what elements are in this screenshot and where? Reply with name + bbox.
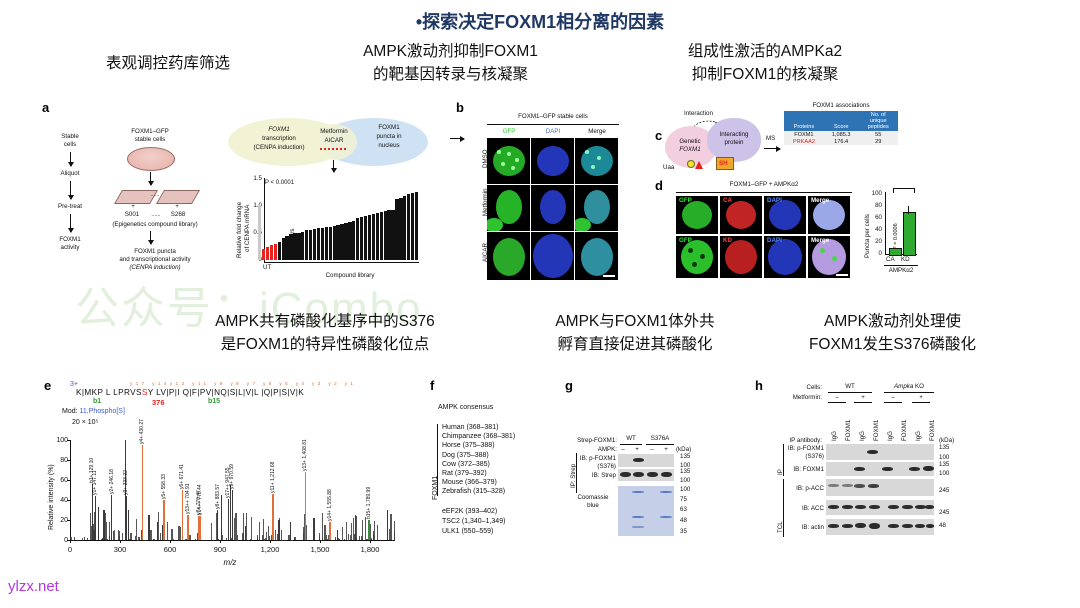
chartE-noise-peak bbox=[394, 531, 395, 540]
panel-f-other-item: ULK1 (550–559) bbox=[442, 528, 493, 537]
panel-a-label: a bbox=[42, 100, 49, 115]
chartE-ytick-mark bbox=[67, 500, 70, 501]
chartE-peak-labeled bbox=[232, 490, 233, 540]
chartA-bar bbox=[325, 227, 328, 260]
chartE-xtick-mark bbox=[270, 540, 271, 543]
chartE-peak-labeled bbox=[142, 445, 144, 540]
micrograph-dmso-merge bbox=[575, 138, 618, 184]
cell-score: 176.4 bbox=[824, 138, 859, 145]
chartE-xtick-label: 1,200 bbox=[254, 545, 286, 554]
panel-b-col-merge: Merge bbox=[576, 128, 618, 136]
panel-g-rule-wt bbox=[620, 444, 642, 445]
chartE-ytick-mark bbox=[67, 460, 70, 461]
panel-h-antibody-label: FOXM1 bbox=[901, 420, 908, 441]
th-proteins: Proteins bbox=[784, 111, 824, 131]
well-plate-right-icon bbox=[156, 190, 200, 204]
chartE-noise-peak bbox=[105, 539, 106, 540]
panel-f-other-item: eEF2K (393–402) bbox=[442, 508, 497, 517]
panel-h-rule-wt bbox=[828, 392, 872, 393]
chartD-significance-bracket bbox=[893, 188, 915, 193]
chartE-noise-peak bbox=[122, 533, 123, 540]
chartE-xtick-label: 1,500 bbox=[304, 545, 336, 554]
slide-canvas: 公众号：iCombo ylzx.net •探索决定FOXM1相分离的因素 表观调… bbox=[0, 0, 1080, 608]
panel-h-rule-ko bbox=[884, 392, 934, 393]
chartA-bar bbox=[282, 238, 285, 260]
chartA-bars bbox=[258, 178, 418, 260]
chartE-ytick-60: 60 bbox=[52, 477, 68, 486]
panel-f-species-item: Dog (375–388) bbox=[442, 452, 489, 461]
flow-foxm1-activity-l1: FOXM1 bbox=[46, 236, 94, 244]
panel-b-col-dapi: DAPI bbox=[532, 128, 574, 136]
plate-label-s001: S001 bbox=[114, 211, 150, 219]
blot-h-pacc bbox=[826, 479, 934, 496]
chartE-noise-peak bbox=[114, 530, 115, 540]
mod-value: 11,Phospho[S] bbox=[80, 408, 125, 415]
panel-h-antibody-label: IgG bbox=[831, 431, 838, 441]
panel-f-species-item: Zebrafish (315–328) bbox=[442, 488, 505, 497]
chartE-noise-peak bbox=[251, 517, 252, 540]
chartD-bar-ca bbox=[889, 248, 902, 256]
chartE-peak-label: y4+ 430.27 bbox=[139, 419, 145, 444]
panel-e-b1: b1 bbox=[93, 398, 101, 407]
chartE-xaxis bbox=[70, 540, 395, 541]
panel-h-blot2-l1: IB: FOXM1 bbox=[786, 466, 824, 474]
bubble-foxm1: FOXM1 bbox=[240, 126, 318, 134]
panel-g-mw2a: 135 bbox=[680, 468, 690, 476]
chartA-bar bbox=[258, 205, 261, 260]
chartE-noise-peak bbox=[173, 539, 174, 540]
chartA-bar bbox=[403, 196, 406, 261]
cell-score: 1,085.3 bbox=[824, 131, 859, 138]
panel-h-metformin-label: Metformin: bbox=[758, 394, 822, 402]
chartE-noise-peak bbox=[135, 536, 136, 540]
panel-c-genetic-l1: Genetic bbox=[665, 138, 715, 146]
panel-g-mw3c: 63 bbox=[680, 506, 687, 514]
chartE-noise-peak bbox=[294, 537, 295, 540]
chartA-bar bbox=[333, 226, 336, 260]
panel-e-site: 376 bbox=[152, 398, 165, 407]
panel-c-partner-l1: Interacting bbox=[709, 131, 759, 139]
chartE-noise-peak bbox=[211, 523, 212, 540]
chartD-xtick-kd: KD bbox=[901, 256, 910, 264]
heading-s376: AMPK共有磷酸化基序中的S376 是FOXM1的特异性磷酸化位点 bbox=[160, 310, 490, 357]
heading-s376-line2: 是FOXM1的特异性磷酸化位点 bbox=[160, 333, 490, 356]
chartA-plot-area bbox=[258, 178, 418, 260]
panel-e-label: e bbox=[44, 378, 51, 393]
chartE-noise-peak bbox=[84, 537, 85, 540]
plate-dots: ...... bbox=[148, 192, 162, 199]
scale-text: 20 × 10⁵ bbox=[72, 419, 98, 426]
cell-peptides: 29 bbox=[859, 138, 899, 145]
panel-d-label-merge-1: Merge bbox=[811, 197, 829, 204]
chartE-noise-peak bbox=[178, 526, 179, 540]
panel-h-antibody-label: IgG bbox=[859, 431, 866, 441]
panel-d-label: d bbox=[655, 178, 663, 193]
panel-f-species-item: Mouse (366–379) bbox=[442, 479, 497, 488]
panel-e-b15: b15 bbox=[208, 398, 220, 407]
chartA-bar bbox=[293, 233, 296, 260]
th-peptides: No. of unique peptides bbox=[859, 111, 899, 131]
chartE-peak-label: y2+ 246.18 bbox=[109, 469, 115, 494]
chartE-noise-peak bbox=[107, 539, 108, 540]
chartE-peak-label: y13+ 1,408.81 bbox=[302, 439, 308, 471]
chartA-bar bbox=[352, 221, 355, 260]
micrograph-dmso-gfp bbox=[487, 138, 530, 184]
panel-g-sign-3: – bbox=[647, 446, 657, 454]
cell-protein: PRKAA2 bbox=[784, 138, 824, 145]
panel-h-label: h bbox=[755, 378, 763, 393]
panel-d-header-rule bbox=[676, 192, 852, 193]
chartD-ytick-5: 100 bbox=[868, 190, 882, 198]
seq-suffix: Y LV|P|I Q|F|PV|NQ|S|L|V|L |Q|P|S|V|K bbox=[148, 388, 304, 397]
panel-h-ip-rule bbox=[783, 444, 784, 476]
chartE-peak-labeled bbox=[217, 510, 218, 540]
panel-g-blot1-l1: IB: p-FOXM1 bbox=[578, 455, 616, 463]
blot-h-foxm1 bbox=[826, 462, 934, 476]
panel-b-header: FOXM1–GFP stable cells bbox=[488, 113, 618, 121]
panel-g-mw3d: 48 bbox=[680, 517, 687, 525]
chartE-ytick-mark bbox=[67, 520, 70, 521]
chartE-noise-peak bbox=[259, 522, 260, 540]
chartE-peak bbox=[157, 522, 158, 540]
chartE-xtick-label: 600 bbox=[154, 545, 186, 554]
mod-prefix: Mod: bbox=[62, 408, 80, 415]
panel-f-other-item: TSC2 (1,340–1,349) bbox=[442, 518, 505, 527]
chartE-noise-peak bbox=[185, 539, 186, 540]
panel-h-cells-ko-gene: Ampka bbox=[894, 383, 913, 390]
panel-c-ms-label: MS bbox=[766, 135, 775, 143]
chartD-xlabel: AMPKα2 bbox=[880, 267, 922, 275]
chartE-noise-peak bbox=[180, 527, 181, 540]
panel-c-ms-arrow-icon bbox=[764, 148, 780, 149]
chartA-bar bbox=[380, 212, 383, 260]
th-score: Score bbox=[824, 111, 859, 131]
chartE-peak-labeled bbox=[126, 496, 127, 540]
panel-e-mod: Mod: 11,Phospho[S] bbox=[62, 408, 125, 415]
heading-ampka2-line1: 组成性激活的AMPKa2 bbox=[640, 40, 890, 63]
chartE-noise-peak bbox=[136, 519, 137, 540]
panel-b-col-gfp: GFP bbox=[488, 128, 530, 136]
chartA-bar bbox=[344, 223, 347, 260]
blot-h-pfoxm1 bbox=[826, 444, 934, 460]
chartE-peak bbox=[148, 515, 149, 540]
chartE-noise-peak bbox=[377, 525, 378, 540]
panel-g-cond-wt: WT bbox=[620, 435, 642, 443]
chartA-bar bbox=[262, 249, 265, 260]
chartE-noise-peak bbox=[319, 533, 320, 540]
panel-g-row-ampk-label: AMPK: bbox=[577, 446, 617, 454]
chartE-ytick-40: 40 bbox=[52, 497, 68, 506]
chartA-bar bbox=[340, 224, 343, 260]
chartE-noise-peak bbox=[150, 530, 151, 540]
panel-h-antibody-label: FOXM1 bbox=[873, 420, 880, 441]
panel-g-ip-rule bbox=[576, 453, 577, 493]
flow-foxm1-activity-l2: activity bbox=[46, 244, 94, 252]
chartA-bar bbox=[289, 234, 292, 260]
chartA-bar bbox=[356, 218, 359, 260]
heading-ampk-agonist-line1: AMPK激动剂抑制FOXM1 bbox=[318, 40, 583, 63]
panel-h-rule-m1 bbox=[828, 402, 846, 403]
chartE-noise-peak bbox=[167, 522, 168, 540]
chartE-noise-peak bbox=[158, 512, 159, 540]
flow-aliquot: Aliquot bbox=[46, 170, 94, 178]
micrograph-aicar-merge bbox=[575, 232, 618, 280]
panel-h-antibody-label: FOXM1 bbox=[929, 420, 936, 441]
chartA-bar bbox=[274, 244, 277, 260]
chartE-noise-peak bbox=[342, 527, 343, 540]
flow-arrow-4-icon bbox=[150, 172, 151, 185]
chartE-xtick-label: 1,800 bbox=[354, 545, 386, 554]
chartE-ytick-100: 100 bbox=[52, 437, 68, 446]
cell-protein: FOXM1 bbox=[784, 131, 824, 138]
chartA-bar bbox=[368, 215, 371, 260]
chartE-noise-peak bbox=[235, 513, 236, 540]
chartE-peak-labeled bbox=[228, 499, 229, 540]
panel-f-species-item: Rat (379–392) bbox=[442, 470, 487, 479]
bubble-puncta-in: puncta in bbox=[356, 133, 422, 141]
panel-c-partner-l2: protein bbox=[709, 139, 759, 147]
chartE-peaks: b1+ 129.10y1+ 147.11y2+ 246.18y3+ 333.22… bbox=[70, 440, 395, 540]
panel-h-mw1a: 135 bbox=[939, 444, 949, 452]
flow-arrow-1-icon bbox=[70, 152, 71, 166]
panel-g-label: g bbox=[565, 378, 573, 393]
chartD-ytick-1: 20 bbox=[868, 238, 882, 246]
chartE-peak-label: y1+ 147.11 bbox=[92, 470, 98, 495]
chartA-bar bbox=[309, 230, 312, 260]
plate-plus-right: + bbox=[162, 203, 192, 211]
micrograph-dmso-dapi bbox=[531, 138, 574, 184]
bubble-metformin: Metformin bbox=[310, 128, 358, 136]
chartE-noise-peak bbox=[242, 533, 243, 540]
chartE-peak-labeled bbox=[111, 495, 112, 540]
panel-h-rule-m3 bbox=[884, 402, 902, 403]
panel-d-label-gfp-2: GFP bbox=[679, 237, 692, 244]
micrograph-aicar-dapi bbox=[531, 232, 574, 280]
panel-h-cells-wt: WT bbox=[828, 383, 872, 391]
heading-agonist-phospho-line1: AMPK激动剂处理使 bbox=[775, 310, 1010, 333]
table-row: FOXM1 1,085.3 55 bbox=[784, 131, 898, 138]
chartE-noise-peak bbox=[257, 535, 258, 540]
chartE-peak bbox=[278, 520, 279, 540]
micrograph-aicar-gfp bbox=[487, 232, 530, 280]
chartA-bar bbox=[415, 192, 418, 260]
chartA-bar bbox=[348, 222, 351, 260]
chartA-bar bbox=[336, 225, 339, 260]
flow-arrow-3-icon bbox=[70, 214, 71, 232]
panel-c-interaction-label: Interaction bbox=[684, 110, 713, 118]
panel-f-species-item: Horse (375–388) bbox=[442, 442, 495, 451]
blot-g-pfoxm1 bbox=[618, 454, 674, 467]
outcome-l1: FOXM1 puncta bbox=[100, 248, 210, 256]
chartE-ytick-mark bbox=[67, 540, 70, 541]
panel-h-mw2a: 135 bbox=[939, 461, 949, 469]
chartE-noise-peak bbox=[130, 539, 131, 540]
chartE-noise-peak bbox=[355, 516, 356, 540]
panel-c-table-title: FOXM1 associations bbox=[784, 102, 898, 110]
panel-g-sign-1: – bbox=[618, 446, 628, 454]
chartE-xtick-mark bbox=[120, 540, 121, 543]
chartE-peak bbox=[337, 530, 338, 540]
chartA-bar bbox=[360, 217, 363, 260]
panel-d-header: FOXM1–GFP + AMPKα2 bbox=[678, 181, 850, 189]
panel-g-coomassie-l2: blue bbox=[570, 502, 616, 510]
flow-stable-cells-l2: cells bbox=[46, 141, 94, 149]
chartE-xtick-label: 300 bbox=[104, 545, 136, 554]
panel-f-label: f bbox=[430, 378, 434, 393]
table-row: PRKAA2 176.4 29 bbox=[784, 138, 898, 145]
table-header-row: Proteins Score No. of unique peptides bbox=[784, 111, 898, 131]
heading-agonist-phospho: AMPK激动剂处理使 FOXM1发生S376磷酸化 bbox=[775, 310, 1010, 357]
panel-c-sh-label: SH bbox=[719, 160, 728, 168]
chartD-bar-kd bbox=[903, 212, 916, 256]
panel-h-blot1-l2: (S376) bbox=[786, 453, 824, 461]
chartE-xtick-mark bbox=[170, 540, 171, 543]
panel-c-label: c bbox=[655, 128, 662, 143]
chartA-bar bbox=[301, 232, 304, 260]
chartE-noise-peak bbox=[373, 531, 374, 540]
chartE-peak-labeled bbox=[182, 490, 184, 540]
chartE-peak-labeled bbox=[163, 500, 165, 540]
heading-invitro-line2: 孵育直接促进其磷酸化 bbox=[510, 333, 760, 356]
chartE-noise-peak bbox=[324, 525, 325, 540]
chartA-bar bbox=[384, 211, 387, 260]
heading-agonist-phospho-line2: FOXM1发生S376磷酸化 bbox=[775, 333, 1010, 356]
chartA-bar bbox=[270, 245, 273, 260]
chartE-ytick-mark bbox=[67, 480, 70, 481]
panel-g-blot1-l2: (S376) bbox=[578, 463, 616, 471]
micrograph-metformin-dapi bbox=[531, 185, 574, 231]
bubble-nucleus: nucleus bbox=[356, 142, 422, 150]
chartA-bar bbox=[321, 228, 324, 260]
panel-h-metf-1: – bbox=[828, 394, 846, 402]
chartE-peak bbox=[313, 518, 314, 540]
panel-h-blot4-l1: IB: ACC bbox=[786, 505, 824, 513]
blot-g-strep bbox=[618, 469, 674, 481]
chartE-peak-labeled bbox=[329, 522, 331, 540]
panel-h-metf-4: + bbox=[912, 394, 930, 402]
chartE-noise-peak bbox=[322, 513, 323, 540]
heading-ampk-agonist: AMPK激动剂抑制FOXM1 的靶基因转录与核凝聚 bbox=[318, 40, 583, 87]
panel-h-antibody-label: FOXM1 bbox=[845, 420, 852, 441]
chartE-xtick-mark bbox=[220, 540, 221, 543]
chartE-peak-labeled bbox=[187, 515, 189, 540]
panel-h-rule-m2 bbox=[854, 402, 872, 403]
chartE-noise-peak bbox=[326, 535, 327, 540]
chartE-noise-peak bbox=[195, 539, 196, 540]
chartE-peak-label: y13++ 704.91 bbox=[185, 483, 191, 514]
chartE-peak-label: y3+ 333.22 bbox=[123, 470, 129, 495]
panel-b-header-rule bbox=[487, 124, 619, 125]
panel-f-species-item: Cow (372–385) bbox=[442, 461, 490, 470]
chartE-peak-labeled bbox=[95, 496, 96, 540]
chartE-peak-label: y9+ 970.59 bbox=[229, 464, 235, 489]
chartE-ytick-mark bbox=[67, 440, 70, 441]
chartE-peak-label: y11+ 1,212.68 bbox=[270, 462, 276, 493]
culture-dish-icon bbox=[127, 147, 175, 171]
chartD-yaxis bbox=[885, 192, 886, 254]
bubble-dotted-underline bbox=[320, 148, 346, 150]
chartA-bar bbox=[297, 233, 300, 260]
panel-h-mw2b: 100 bbox=[939, 470, 949, 478]
th-peptides-l3: peptides bbox=[862, 124, 896, 130]
panel-h-tcl-rule bbox=[783, 479, 784, 537]
chartE-noise-peak bbox=[138, 537, 139, 540]
foxm1-associations-table: Proteins Score No. of unique peptides FO… bbox=[784, 111, 898, 145]
heading-screen: 表观调控药库筛选 bbox=[38, 52, 298, 75]
chartE-peak bbox=[290, 522, 291, 540]
chartA-bar bbox=[395, 199, 398, 260]
chartE-noise-peak bbox=[189, 535, 190, 540]
bubble-foxm1-2: FOXM1 bbox=[356, 124, 422, 132]
chartE-xtick-label: 0 bbox=[54, 545, 86, 554]
panel-h-mw3: 245 bbox=[939, 487, 949, 495]
panel-d-label-merge-2: Merge bbox=[811, 237, 829, 244]
panel-h-cells-ko: Ampka KO bbox=[882, 383, 936, 391]
chartE-peak-label: y5+ 558.33 bbox=[161, 474, 167, 499]
chartE-peak-labeled bbox=[305, 472, 307, 540]
panel-h-blot3-l1: IB: p-ACC bbox=[786, 485, 824, 493]
chartD-ytick-0: 0 bbox=[868, 250, 882, 258]
panel-b-label: b bbox=[456, 100, 464, 115]
chartE-noise-peak bbox=[350, 535, 351, 540]
chartE-noise-peak bbox=[390, 514, 391, 540]
chartA-bar bbox=[391, 210, 394, 260]
panel-g-coomassie-l1: Coomassie bbox=[570, 494, 616, 502]
heading-invitro-line1: AMPK与FOXM1体外共 bbox=[510, 310, 760, 333]
panel-g-blot2: IB: Strep bbox=[586, 472, 616, 480]
chartE-xtick-mark bbox=[370, 540, 371, 543]
chartA-bar bbox=[278, 242, 281, 260]
chartE-noise-peak bbox=[113, 531, 114, 540]
chartE-noise-peak bbox=[263, 519, 264, 540]
panel-g-row-strep-label: Strep-FOXM1: bbox=[567, 437, 617, 445]
panel-d-label-dapi-2: DAPI bbox=[767, 237, 782, 244]
panel-g-mw3b: 75 bbox=[680, 496, 687, 504]
panel-h-cells-ko-suffix: KO bbox=[913, 383, 924, 390]
heading-ampk-agonist-line2: 的靶基因转录与核凝聚 bbox=[318, 63, 583, 86]
chartE-noise-peak bbox=[362, 539, 363, 541]
chartE-noise-peak bbox=[281, 530, 282, 540]
chartD-ytick-3: 60 bbox=[868, 214, 882, 222]
chartE-noise-peak bbox=[346, 522, 347, 540]
panel-g-mw2b: 100 bbox=[680, 477, 690, 485]
panel-f-species-item: Human (368–381) bbox=[442, 424, 498, 433]
chartE-xtick-mark bbox=[70, 540, 71, 543]
chartD-ytick-4: 80 bbox=[868, 202, 882, 210]
dish-caption-l2: stable cells bbox=[110, 136, 190, 144]
heading-ampka2: 组成性激活的AMPKa2 抑制FOXM1的核凝聚 bbox=[640, 40, 890, 87]
panel-g-mw3a: 100 bbox=[680, 486, 690, 494]
chartA-bar bbox=[285, 236, 288, 260]
watermark-corner: ylzx.net bbox=[8, 578, 59, 595]
panel-g-rule-mut bbox=[646, 444, 674, 445]
uaa-triangle-icon bbox=[695, 161, 703, 169]
chartE-noise-peak bbox=[359, 536, 360, 540]
chartA-bar bbox=[407, 194, 410, 260]
panel-g-mw3e: 35 bbox=[680, 528, 687, 536]
blot-g-coomassie bbox=[618, 486, 674, 536]
panel-c-uaa-label: Uaa bbox=[663, 164, 674, 172]
chartE-noise-peak bbox=[268, 526, 269, 540]
chartE-noise-peak bbox=[82, 538, 83, 540]
panel-g-mw1a: 135 bbox=[680, 453, 690, 461]
chartD-pvalue: P = 0.0006 bbox=[893, 223, 899, 250]
chartD-xtick-ca: CA bbox=[886, 256, 895, 264]
panel-h-blot5-l1: IB: actin bbox=[786, 524, 824, 532]
chartE-peak bbox=[387, 510, 388, 540]
panel-h-antibody-label: IgG bbox=[915, 431, 922, 441]
panel-d-label-dapi-1: DAPI bbox=[767, 197, 782, 204]
